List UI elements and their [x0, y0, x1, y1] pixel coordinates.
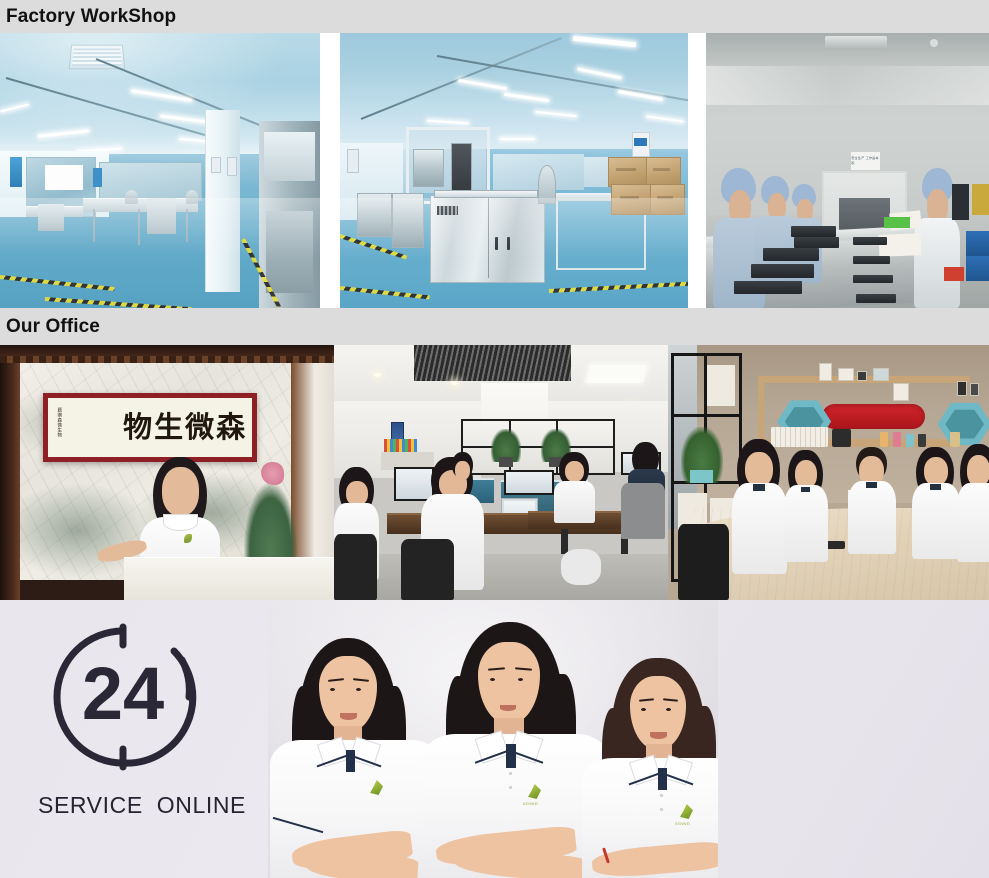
polo-shirt: [912, 483, 960, 559]
shirt-button: [660, 794, 663, 797]
office-chair: [334, 534, 377, 600]
carton-box: [646, 157, 681, 187]
eye: [356, 688, 361, 691]
clock-number: 24: [82, 652, 164, 735]
pillar-label: [211, 157, 221, 174]
wall-poster: [10, 157, 23, 187]
meeting-room-scene: [668, 345, 989, 600]
placket: [658, 768, 667, 790]
chair-base: [561, 549, 601, 585]
wood-trim-left: [0, 345, 20, 600]
product-bottle: [880, 432, 888, 447]
partition-rail: [463, 446, 613, 448]
team-trio-photo[interactable]: SENWEI: [268, 600, 718, 878]
cleanroom-scene: [0, 33, 320, 308]
wall-sign: 安全生产 工作是本职: [850, 151, 881, 170]
page-root: Factory WorkShop: [0, 0, 989, 878]
red-object: [944, 267, 964, 281]
service-banner: 24 SERVICE ONLINE: [0, 600, 989, 878]
team-member: [732, 439, 787, 574]
production-line-scene: [340, 33, 688, 308]
product-box: [838, 368, 854, 381]
sign-graphic: [634, 138, 647, 146]
polo-shirt: [957, 483, 989, 562]
ceiling-air-vent: [69, 45, 126, 69]
staff-person-right: SENWEI: [578, 642, 718, 878]
product-tray: [853, 256, 890, 264]
uniform: [914, 218, 961, 308]
clock-ring-segment: [182, 660, 189, 697]
placket: [506, 744, 516, 768]
calligraphy-plaque: 题赠森微生物 物 生 微 森: [43, 393, 257, 462]
plant-pot: [499, 457, 512, 467]
mouth: [650, 732, 667, 739]
open-plan-office-photo[interactable]: [334, 345, 668, 600]
ceiling-fixture: [825, 36, 887, 50]
workshop-scene: 安全生产 工作是本职: [706, 33, 989, 308]
product-row: [835, 409, 894, 427]
team-member: [957, 444, 989, 561]
service-online-caption: SERVICE ONLINE: [38, 792, 268, 819]
collar-trim: [866, 482, 877, 487]
wall-poster: [93, 168, 103, 187]
lightbox-panel: [45, 165, 83, 190]
staff-member: [554, 452, 594, 523]
section-title-office: Our Office: [0, 316, 100, 338]
product-tray: [751, 264, 813, 278]
polo-shirt: [784, 485, 829, 561]
mouth: [500, 705, 516, 711]
calligraphy-inscription: 题赠森微生物: [55, 407, 61, 448]
product-box: [819, 363, 832, 381]
shirt-button: [660, 808, 663, 811]
banner-right-fill: [718, 600, 989, 878]
face: [162, 467, 198, 516]
cleanroom-photo[interactable]: [0, 33, 320, 308]
eye: [490, 678, 495, 681]
meeting-room-photo[interactable]: [668, 345, 989, 600]
product-box: [893, 383, 909, 401]
mouth: [340, 713, 357, 720]
assembly-workers-photo[interactable]: 安全生产 工作是本职: [706, 33, 989, 308]
clock-24-icon: 24: [44, 618, 202, 776]
section-heading-office: Our Office: [0, 308, 989, 345]
wood-ceiling-trim: [0, 345, 334, 363]
factory-image-row: 安全生产 工作是本职: [0, 33, 989, 308]
clock-24-icon-svg: 24: [44, 618, 202, 776]
product-tray: [853, 237, 887, 245]
shelf-upright: [758, 378, 764, 444]
polo-shirt: [848, 481, 896, 554]
collar-trim: [930, 484, 941, 490]
ceiling-slats: [414, 345, 571, 381]
product-box: [857, 371, 867, 381]
equipment-dark: [952, 184, 969, 220]
face: [967, 455, 989, 487]
blue-crate: [966, 256, 989, 281]
product-tray: [791, 226, 836, 237]
face: [346, 481, 368, 506]
team-member: [784, 450, 829, 562]
product-bottle: [906, 434, 914, 447]
face: [924, 457, 948, 486]
office-chair: [621, 483, 664, 539]
office-image-row: 题赠森微生物 物 生 微 森: [0, 345, 989, 600]
cabinet-top: [434, 190, 538, 198]
polo-shirt: [732, 483, 787, 575]
collar-trim: [753, 484, 765, 491]
calligraphy-char-4: 物: [123, 413, 153, 442]
production-line-photo[interactable]: [340, 33, 688, 308]
logo-wordmark: SENWEI: [675, 822, 691, 826]
face: [455, 461, 469, 480]
panel-light: [586, 365, 647, 383]
carton-box: [608, 157, 650, 187]
calligraphy-char-1: 森: [216, 413, 246, 442]
open-office-scene: [334, 345, 668, 600]
rack-panel: [707, 365, 736, 406]
reception-desk: [124, 557, 334, 600]
machine-head: [413, 149, 444, 188]
calligraphy-char-2: 微: [185, 413, 215, 442]
monitor: [504, 470, 554, 496]
face: [795, 460, 817, 489]
blue-crate: [966, 231, 989, 256]
green-bin: [884, 217, 909, 228]
team-member: [848, 447, 896, 554]
led-strip: [500, 138, 535, 140]
ceiling-sensor: [930, 39, 938, 47]
chair: [678, 524, 729, 601]
reception-photo[interactable]: 题赠森微生物 物 生 微 森: [0, 345, 334, 600]
office-chair: [401, 539, 454, 600]
product-tray: [794, 237, 839, 248]
shirt-button: [509, 786, 512, 789]
section-heading-factory: Factory WorkShop: [0, 0, 989, 33]
calligraphy-characters: 物 生 微 森: [123, 413, 246, 442]
product-bottle: [893, 432, 901, 447]
staff-member: [448, 452, 478, 493]
eye: [330, 688, 335, 691]
plant-pot: [690, 470, 712, 483]
collar-trim: [801, 487, 811, 493]
wall-box: [972, 184, 989, 214]
product-tray: [734, 281, 802, 295]
reception-scene: 题赠森微生物 物 生 微 森: [0, 345, 334, 600]
product-tray: [856, 294, 896, 302]
wall-sheen: [706, 66, 989, 105]
eye: [518, 678, 523, 681]
product-dark: [832, 429, 851, 447]
team-member: [912, 447, 960, 559]
page-title: Factory WorkShop: [0, 6, 176, 28]
face: [565, 461, 584, 482]
carpet-floor: [334, 554, 668, 600]
product-box: [957, 381, 967, 396]
polo-shirt: [554, 481, 594, 524]
eye: [641, 708, 646, 711]
shirt-button: [509, 772, 512, 775]
logo-wordmark: SENWEI: [523, 802, 539, 806]
placket: [346, 750, 355, 772]
wall-sign-line-1: 安全生产 工作是本职: [851, 156, 880, 165]
product-bottle: [918, 434, 926, 447]
eye: [666, 708, 671, 711]
face: [745, 452, 772, 487]
product-box: [873, 368, 889, 381]
product-tray: [853, 275, 893, 283]
downlight: [451, 381, 458, 385]
pillar-label: [227, 157, 237, 176]
product-box: [970, 383, 980, 396]
calligraphy-char-3: 生: [154, 413, 184, 442]
wall-notice: [347, 149, 359, 174]
product-tray: [763, 248, 820, 262]
